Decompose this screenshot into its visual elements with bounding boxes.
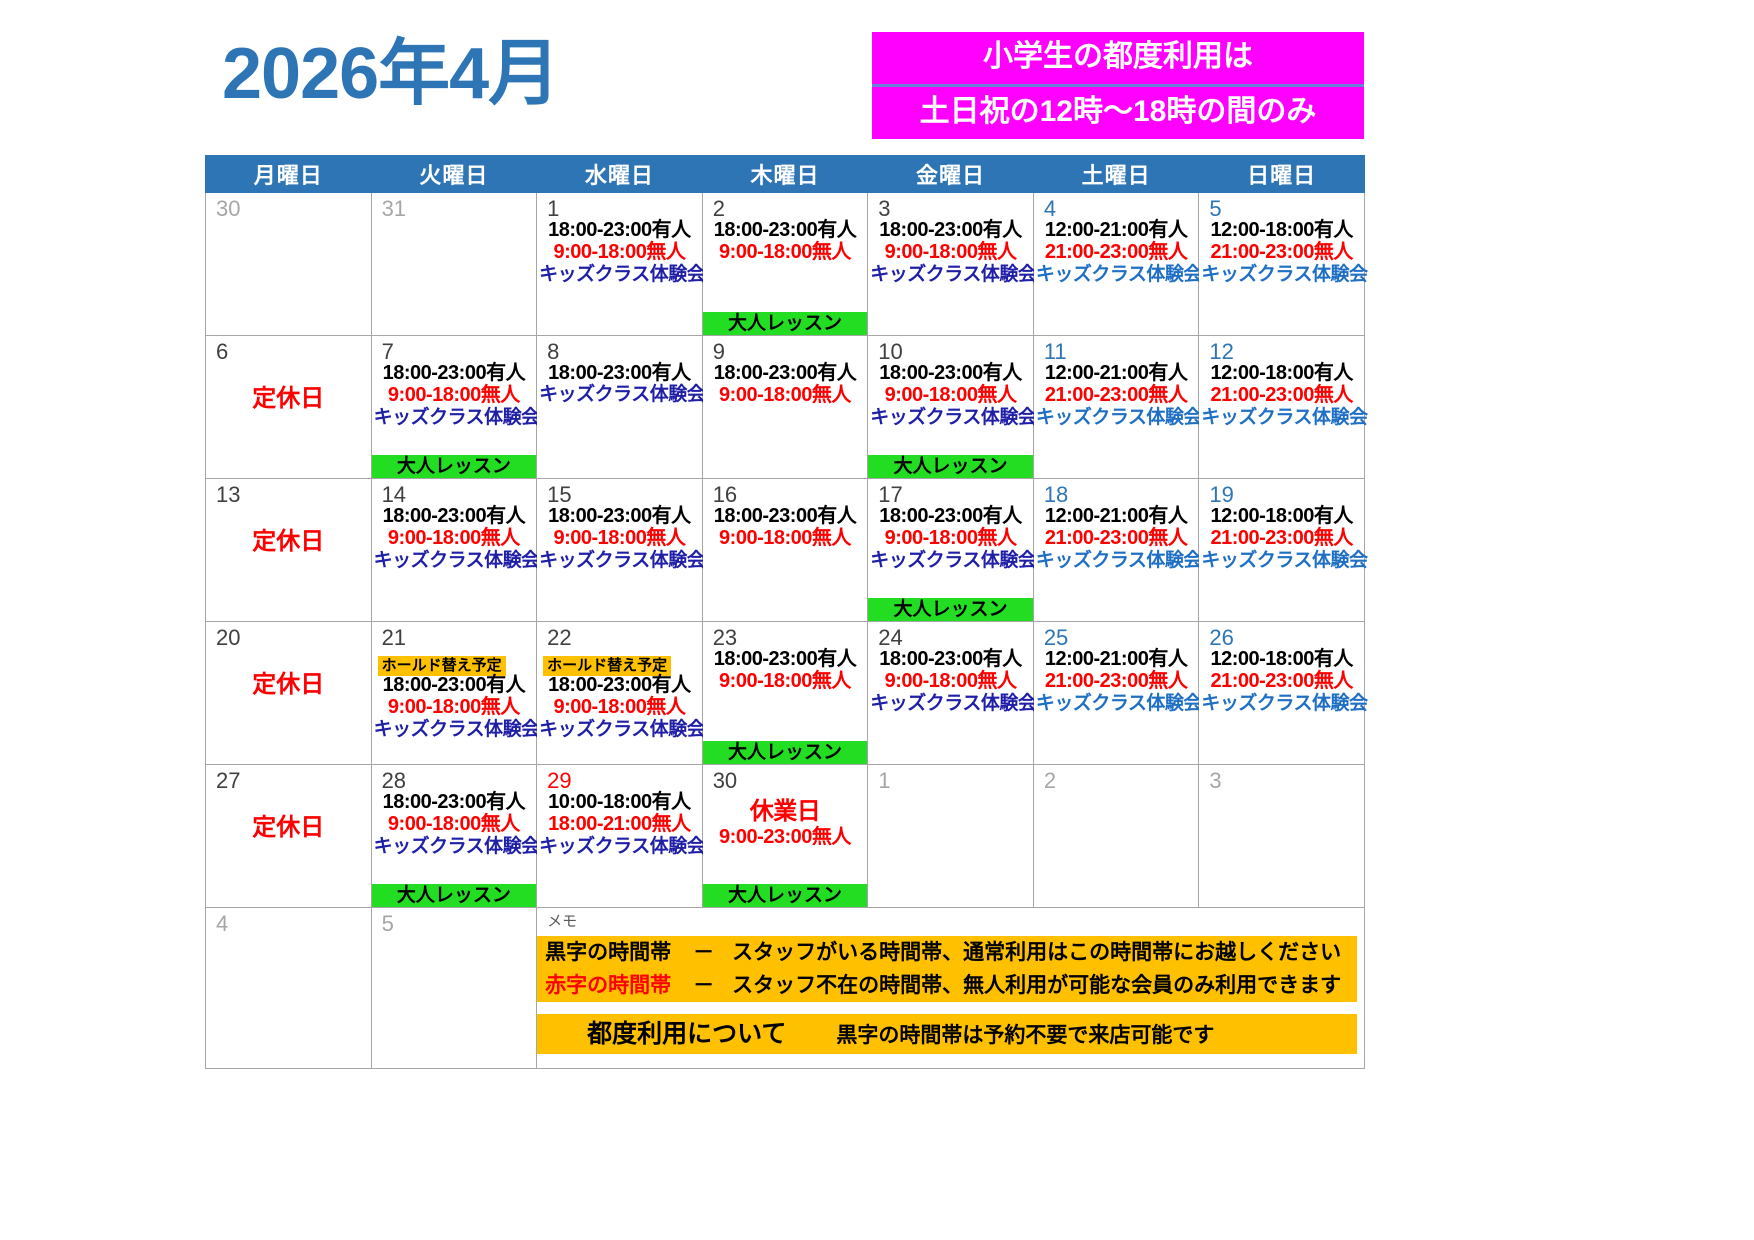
weekday-header-sun: 日曜日 — [1199, 156, 1365, 193]
day-number: 17 — [868, 479, 902, 506]
unstaffed-hours: 9:00-18:00無人 — [870, 527, 1031, 549]
calendar-week-row: 13定休日1418:00-23:00有人9:00-18:00無人キッズクラス体験… — [206, 479, 1365, 622]
calendar-day-cell[interactable]: 6定休日 — [206, 336, 372, 479]
staffed-hours: 18:00-23:00有人 — [539, 505, 700, 527]
day-number: 10 — [868, 336, 902, 363]
day-schedule-lines: 18:00-23:00有人9:00-18:00無人 — [703, 219, 868, 264]
day-cell-content: 2910:00-18:00有人18:00-21:00無人キッズクラス体験会 — [537, 765, 702, 907]
calendar-day-cell[interactable]: 30休業日9:00-23:00無人大人レッスン — [702, 765, 868, 908]
day-schedule-lines: 12:00-18:00有人21:00-23:00無人キッズクラス体験会 — [1199, 219, 1364, 285]
day-number: 5 — [1199, 193, 1221, 220]
day-schedule-lines: 18:00-23:00有人9:00-18:00無人キッズクラス体験会 — [868, 362, 1033, 428]
adult-lesson-bar: 大人レッスン — [372, 455, 537, 478]
legend-key: 赤字の時間帯 — [545, 974, 671, 997]
calendar-day-cell[interactable]: 20定休日 — [206, 622, 372, 765]
kids-class-trial-label: キッズクラス体験会 — [870, 407, 1031, 428]
calendar-day-cell[interactable]: 22ホールド替え予定18:00-23:00有人9:00-18:00無人キッズクラ… — [537, 622, 703, 765]
day-cell-content: 1418:00-23:00有人9:00-18:00無人キッズクラス体験会 — [372, 479, 537, 621]
unstaffed-hours: 21:00-23:00無人 — [1036, 241, 1197, 263]
staffed-hours: 18:00-23:00有人 — [870, 505, 1031, 527]
adult-lesson-bar: 大人レッスン — [868, 598, 1033, 621]
day-number: 14 — [372, 479, 406, 506]
weekday-header-wed: 水曜日 — [537, 156, 703, 193]
day-number: 25 — [1034, 622, 1068, 649]
calendar-day-cell[interactable]: 27定休日 — [206, 765, 372, 908]
unstaffed-hours: 9:00-18:00無人 — [705, 384, 866, 406]
memo-label: メモ — [537, 908, 1364, 929]
calendar-day-cell[interactable]: 412:00-21:00有人21:00-23:00無人キッズクラス体験会 — [1033, 193, 1199, 336]
day-number: 5 — [372, 908, 394, 935]
staffed-hours: 12:00-21:00有人 — [1036, 648, 1197, 670]
staffed-hours: 12:00-18:00有人 — [1201, 505, 1362, 527]
day-cell-content: 1912:00-18:00有人21:00-23:00無人キッズクラス体験会 — [1199, 479, 1364, 621]
kids-class-trial-label: キッズクラス体験会 — [1201, 264, 1362, 285]
calendar-day-cell[interactable]: 2418:00-23:00有人9:00-18:00無人キッズクラス体験会 — [868, 622, 1034, 765]
unstaffed-hours: 21:00-23:00無人 — [1036, 384, 1197, 406]
day-number: 6 — [206, 336, 228, 363]
day-cell-content: 1112:00-21:00有人21:00-23:00無人キッズクラス体験会 — [1034, 336, 1199, 478]
day-number: 2 — [703, 193, 725, 220]
staffed-hours: 18:00-23:00有人 — [705, 505, 866, 527]
calendar-day-cell[interactable]: 1018:00-23:00有人9:00-18:00無人キッズクラス体験会大人レッ… — [868, 336, 1034, 479]
day-cell-content: 22ホールド替え予定18:00-23:00有人9:00-18:00無人キッズクラ… — [537, 622, 702, 764]
kids-class-trial-label: キッズクラス体験会 — [374, 719, 535, 740]
day-number: 24 — [868, 622, 902, 649]
kids-class-trial-label: キッズクラス体験会 — [1036, 407, 1197, 428]
day-number: 1 — [868, 765, 890, 792]
calendar-day-cell[interactable]: 718:00-23:00有人9:00-18:00無人キッズクラス体験会大人レッス… — [371, 336, 537, 479]
unstaffed-hours: 9:00-18:00無人 — [374, 813, 535, 835]
day-number: 12 — [1199, 336, 1233, 363]
calendar-day-cell[interactable]: 1 — [868, 765, 1034, 908]
legend-description: スタッフ不在の時間帯、無人利用が可能な会員のみ利用できます — [732, 974, 1341, 997]
kids-class-trial-label: キッズクラス体験会 — [870, 550, 1031, 571]
unstaffed-hours: 9:00-18:00無人 — [374, 527, 535, 549]
unstaffed-hours: 21:00-23:00無人 — [1201, 241, 1362, 263]
kids-class-trial-label: キッズクラス体験会 — [374, 550, 535, 571]
unstaffed-hours: 21:00-23:00無人 — [1036, 670, 1197, 692]
day-cell-content: 13定休日 — [206, 479, 371, 621]
calendar-day-cell[interactable]: 2910:00-18:00有人18:00-21:00無人キッズクラス体験会 — [537, 765, 703, 908]
day-cell-content: 818:00-23:00有人キッズクラス体験会 — [537, 336, 702, 478]
adult-lesson-bar: 大人レッスン — [703, 884, 868, 907]
calendar-day-cell[interactable]: 512:00-18:00有人21:00-23:00無人キッズクラス体験会 — [1199, 193, 1365, 336]
day-number: 11 — [1034, 336, 1067, 363]
weekday-header-row: 月曜日 火曜日 水曜日 木曜日 金曜日 土曜日 日曜日 — [206, 156, 1365, 193]
day-number: 3 — [868, 193, 890, 220]
unstaffed-hours: 9:00-18:00無人 — [539, 696, 700, 718]
day-schedule-lines: 18:00-23:00有人9:00-18:00無人キッズクラス体験会 — [537, 674, 702, 740]
calendar-day-cell[interactable]: 2612:00-18:00有人21:00-23:00無人キッズクラス体験会 — [1199, 622, 1365, 765]
calendar-day-cell[interactable]: 1812:00-21:00有人21:00-23:00無人キッズクラス体験会 — [1033, 479, 1199, 622]
staffed-hours: 18:00-23:00有人 — [539, 219, 700, 241]
day-cell-content: 30 — [206, 193, 371, 335]
calendar-memo-row: 45メモ黒字の時間帯－スタッフがいる時間帯、通常利用はこの時間帯にお越しください… — [206, 908, 1365, 1069]
day-cell-content: 1 — [868, 765, 1033, 907]
staffed-hours: 18:00-23:00有人 — [374, 505, 535, 527]
day-schedule-lines: 12:00-18:00有人21:00-23:00無人キッズクラス体験会 — [1199, 362, 1364, 428]
calendar-day-cell[interactable]: 318:00-23:00有人9:00-18:00無人キッズクラス体験会 — [868, 193, 1034, 336]
day-cell-content: 1518:00-23:00有人9:00-18:00無人キッズクラス体験会 — [537, 479, 702, 621]
unstaffed-hours: 9:00-18:00無人 — [705, 241, 866, 263]
day-cell-content: 512:00-18:00有人21:00-23:00無人キッズクラス体験会 — [1199, 193, 1364, 335]
adult-lesson-bar: 大人レッスン — [703, 741, 868, 764]
day-number: 16 — [703, 479, 737, 506]
unstaffed-hours: 9:00-18:00無人 — [539, 527, 700, 549]
memo-panel: メモ黒字の時間帯－スタッフがいる時間帯、通常利用はこの時間帯にお越しください赤字… — [537, 908, 1365, 1069]
day-schedule-lines: 12:00-18:00有人21:00-23:00無人キッズクラス体験会 — [1199, 505, 1364, 571]
day-number: 18 — [1034, 479, 1068, 506]
unstaffed-hours: 9:00-23:00無人 — [705, 826, 866, 848]
day-cell-content: 2512:00-21:00有人21:00-23:00無人キッズクラス体験会 — [1034, 622, 1199, 764]
unstaffed-hours: 21:00-23:00無人 — [1201, 384, 1362, 406]
weekday-header-fri: 金曜日 — [868, 156, 1034, 193]
day-number: 19 — [1199, 479, 1233, 506]
staffed-hours: 12:00-18:00有人 — [1201, 219, 1362, 241]
kids-class-trial-label: キッズクラス体験会 — [1036, 693, 1197, 714]
calendar-day-cell[interactable]: 1912:00-18:00有人21:00-23:00無人キッズクラス体験会 — [1199, 479, 1365, 622]
calendar-day-cell[interactable]: 1618:00-23:00有人9:00-18:00無人 — [702, 479, 868, 622]
staffed-hours: 18:00-23:00有人 — [539, 674, 700, 696]
kids-class-trial-label: キッズクラス体験会 — [1201, 550, 1362, 571]
day-schedule-lines: 18:00-23:00有人9:00-18:00無人キッズクラス体験会 — [868, 505, 1033, 571]
unstaffed-hours: 9:00-18:00無人 — [374, 696, 535, 718]
regular-holiday-label: 定休日 — [206, 521, 371, 556]
staffed-hours: 18:00-23:00有人 — [705, 219, 866, 241]
day-cell-content: 27定休日 — [206, 765, 371, 907]
staffed-hours: 12:00-21:00有人 — [1036, 219, 1197, 241]
day-cell-content: 6定休日 — [206, 336, 371, 478]
staffed-hours: 12:00-21:00有人 — [1036, 505, 1197, 527]
day-schedule-lines: 12:00-21:00有人21:00-23:00無人キッズクラス体験会 — [1034, 362, 1199, 428]
staffed-hours: 18:00-23:00有人 — [870, 219, 1031, 241]
kids-class-trial-label: キッズクラス体験会 — [870, 264, 1031, 285]
unstaffed-hours: 9:00-18:00無人 — [870, 241, 1031, 263]
day-number: 4 — [1034, 193, 1056, 220]
day-number: 23 — [703, 622, 737, 649]
calendar-day-cell[interactable]: 1112:00-21:00有人21:00-23:00無人キッズクラス体験会 — [1033, 336, 1199, 479]
day-number: 31 — [372, 193, 406, 220]
legend-block: 黒字の時間帯－スタッフがいる時間帯、通常利用はこの時間帯にお越しください赤字の時… — [537, 936, 1357, 1054]
day-schedule-lines: 12:00-18:00有人21:00-23:00無人キッズクラス体験会 — [1199, 648, 1364, 714]
regular-holiday-label: 定休日 — [206, 664, 371, 699]
weekday-header-tue: 火曜日 — [371, 156, 537, 193]
day-number: 9 — [703, 336, 725, 363]
legend-row: 赤字の時間帯－スタッフ不在の時間帯、無人利用が可能な会員のみ利用できます — [537, 969, 1357, 1002]
staffed-hours: 18:00-23:00有人 — [705, 362, 866, 384]
day-cell-content: 2 — [1034, 765, 1199, 907]
unstaffed-hours: 9:00-18:00無人 — [705, 527, 866, 549]
day-number: 4 — [206, 908, 228, 935]
day-cell-content: 31 — [372, 193, 537, 335]
calendar-day-cell[interactable]: 2 — [1033, 765, 1199, 908]
day-cell-content: 118:00-23:00有人9:00-18:00無人キッズクラス体験会 — [537, 193, 702, 335]
day-schedule-lines: 18:00-23:00有人キッズクラス体験会 — [537, 362, 702, 406]
day-schedule-lines: 18:00-23:00有人9:00-18:00無人 — [703, 362, 868, 407]
day-cell-content: 918:00-23:00有人9:00-18:00無人 — [703, 336, 868, 478]
staffed-hours: 18:00-23:00有人 — [870, 362, 1031, 384]
staffed-hours: 18:00-23:00有人 — [374, 362, 535, 384]
calendar-day-cell[interactable]: 218:00-23:00有人9:00-18:00無人大人レッスン — [702, 193, 868, 336]
day-cell-content: 30休業日9:00-23:00無人大人レッスン — [703, 765, 868, 907]
kids-class-trial-label: キッズクラス体験会 — [374, 407, 535, 428]
staffed-hours: 10:00-18:00有人 — [539, 791, 700, 813]
day-cell-content: 1812:00-21:00有人21:00-23:00無人キッズクラス体験会 — [1034, 479, 1199, 621]
kids-class-trial-label: キッズクラス体験会 — [539, 836, 700, 857]
calendar-day-cell[interactable]: 5 — [371, 908, 537, 1069]
notice-banner: 小学生の都度利用は 土日祝の12時～18時の間のみ — [872, 32, 1364, 139]
regular-holiday-label: 定休日 — [206, 378, 371, 413]
notice-line-2: 土日祝の12時～18時の間のみ — [872, 87, 1364, 139]
legend-dash: － — [671, 974, 732, 997]
unstaffed-hours: 21:00-23:00無人 — [1036, 527, 1197, 549]
day-cell-content: 218:00-23:00有人9:00-18:00無人大人レッスン — [703, 193, 868, 335]
day-cell-content: 2418:00-23:00有人9:00-18:00無人キッズクラス体験会 — [868, 622, 1033, 764]
calendar-week-row: 27定休日2818:00-23:00有人9:00-18:00無人キッズクラス体験… — [206, 765, 1365, 908]
day-schedule-lines: 18:00-23:00有人9:00-18:00無人 — [703, 648, 868, 693]
legend-row: 黒字の時間帯－スタッフがいる時間帯、通常利用はこの時間帯にお越しください — [537, 936, 1357, 969]
kids-class-trial-label: キッズクラス体験会 — [539, 550, 700, 571]
day-number: 30 — [206, 193, 240, 220]
kids-class-trial-label: キッズクラス体験会 — [1201, 693, 1362, 714]
day-schedule-lines: 12:00-21:00有人21:00-23:00無人キッズクラス体験会 — [1034, 219, 1199, 285]
day-number: 1 — [537, 193, 559, 220]
unstaffed-hours: 9:00-18:00無人 — [539, 241, 700, 263]
calendar-day-cell[interactable]: 818:00-23:00有人キッズクラス体験会 — [537, 336, 703, 479]
day-number: 21 — [372, 622, 406, 649]
kids-class-trial-label: キッズクラス体験会 — [1201, 407, 1362, 428]
day-cell-content: 2818:00-23:00有人9:00-18:00無人キッズクラス体験会大人レッ… — [372, 765, 537, 907]
regular-holiday-label: 定休日 — [206, 807, 371, 842]
legend-dash: － — [671, 941, 732, 964]
day-number: 2 — [1034, 765, 1056, 792]
day-number: 28 — [372, 765, 406, 792]
calendar-day-cell[interactable]: 21ホールド替え予定18:00-23:00有人9:00-18:00無人キッズクラ… — [371, 622, 537, 765]
calendar-week-row: 3031118:00-23:00有人9:00-18:00無人キッズクラス体験会2… — [206, 193, 1365, 336]
day-schedule-lines: 18:00-23:00有人9:00-18:00無人キッズクラス体験会 — [868, 648, 1033, 714]
calendar-page: 2026年4月 小学生の都度利用は 土日祝の12時～18時の間のみ 月曜日 火曜… — [0, 0, 1754, 1240]
day-number: 30 — [703, 765, 737, 792]
notice-line-1: 小学生の都度利用は — [872, 32, 1364, 87]
legend-key: 黒字の時間帯 — [545, 941, 671, 964]
calendar-day-cell[interactable]: 31 — [371, 193, 537, 336]
calendar-day-cell[interactable]: 118:00-23:00有人9:00-18:00無人キッズクラス体験会 — [537, 193, 703, 336]
calendar-day-cell[interactable]: 2318:00-23:00有人9:00-18:00無人大人レッスン — [702, 622, 868, 765]
day-cell-content: 2612:00-18:00有人21:00-23:00無人キッズクラス体験会 — [1199, 622, 1364, 764]
day-schedule-lines: 10:00-18:00有人18:00-21:00無人キッズクラス体験会 — [537, 791, 702, 857]
unstaffed-hours: 21:00-23:00無人 — [1201, 670, 1362, 692]
day-number: 8 — [537, 336, 559, 363]
calendar-day-cell[interactable]: 4 — [206, 908, 372, 1069]
adult-lesson-bar: 大人レッスン — [703, 312, 868, 335]
day-schedule-lines: 18:00-23:00有人9:00-18:00無人キッズクラス体験会 — [537, 505, 702, 571]
calendar-week-row: 6定休日718:00-23:00有人9:00-18:00無人キッズクラス体験会大… — [206, 336, 1365, 479]
calendar-day-cell[interactable]: 30 — [206, 193, 372, 336]
legend-footer-text: 黒字の時間帯は予約不要で来店可能です — [786, 1024, 1214, 1047]
unstaffed-hours: 18:00-21:00無人 — [539, 813, 700, 835]
day-schedule-lines: 18:00-23:00有人9:00-18:00無人キッズクラス体験会 — [372, 362, 537, 428]
day-cell-content: 1618:00-23:00有人9:00-18:00無人 — [703, 479, 868, 621]
weekday-header-sat: 土曜日 — [1033, 156, 1199, 193]
day-cell-content: 20定休日 — [206, 622, 371, 764]
day-schedule-lines: 12:00-21:00有人21:00-23:00無人キッズクラス体験会 — [1034, 505, 1199, 571]
day-schedule-lines: 18:00-23:00有人9:00-18:00無人キッズクラス体験会 — [372, 791, 537, 857]
adult-lesson-bar: 大人レッスン — [372, 884, 537, 907]
unstaffed-hours: 9:00-18:00無人 — [870, 384, 1031, 406]
staffed-hours: 18:00-23:00有人 — [705, 648, 866, 670]
day-number: 20 — [206, 622, 240, 649]
day-cell-content: 718:00-23:00有人9:00-18:00無人キッズクラス体験会大人レッス… — [372, 336, 537, 478]
unstaffed-hours: 21:00-23:00無人 — [1201, 527, 1362, 549]
calendar-body: 3031118:00-23:00有人9:00-18:00無人キッズクラス体験会2… — [206, 193, 1365, 1069]
calendar-day-cell[interactable]: 918:00-23:00有人9:00-18:00無人 — [702, 336, 868, 479]
unstaffed-hours: 9:00-18:00無人 — [705, 670, 866, 692]
staffed-hours: 12:00-21:00有人 — [1036, 362, 1197, 384]
legend-gap — [537, 1002, 1357, 1014]
day-schedule-lines: 12:00-21:00有人21:00-23:00無人キッズクラス体験会 — [1034, 648, 1199, 714]
day-number: 3 — [1199, 765, 1221, 792]
day-number: 13 — [206, 479, 240, 506]
staffed-hours: 18:00-23:00有人 — [539, 362, 700, 384]
calendar-table: 月曜日 火曜日 水曜日 木曜日 金曜日 土曜日 日曜日 3031118:00-2… — [205, 155, 1365, 1069]
day-number: 15 — [537, 479, 571, 506]
day-cell-content: 318:00-23:00有人9:00-18:00無人キッズクラス体験会 — [868, 193, 1033, 335]
hold-change-badge: ホールド替え予定 — [378, 656, 506, 676]
day-cell-content: 412:00-21:00有人21:00-23:00無人キッズクラス体験会 — [1034, 193, 1199, 335]
day-schedule-lines: 18:00-23:00有人9:00-18:00無人キッズクラス体験会 — [868, 219, 1033, 285]
legend-footer-row: 都度利用について黒字の時間帯は予約不要で来店可能です — [537, 1014, 1357, 1054]
hold-change-badge: ホールド替え予定 — [543, 656, 671, 676]
kids-class-trial-label: キッズクラス体験会 — [870, 693, 1031, 714]
day-cell-content: 1018:00-23:00有人9:00-18:00無人キッズクラス体験会大人レッ… — [868, 336, 1033, 478]
kids-class-trial-label: キッズクラス体験会 — [1036, 264, 1197, 285]
calendar-day-cell[interactable]: 3 — [1199, 765, 1365, 908]
day-cell-content: 1718:00-23:00有人9:00-18:00無人キッズクラス体験会大人レッ… — [868, 479, 1033, 621]
day-number: 29 — [537, 765, 571, 792]
day-schedule-lines: 18:00-23:00有人9:00-18:00無人キッズクラス体験会 — [537, 219, 702, 285]
staffed-hours: 18:00-23:00有人 — [374, 791, 535, 813]
day-number: 27 — [206, 765, 240, 792]
weekday-header-thu: 木曜日 — [702, 156, 868, 193]
closed-day-label: 休業日 — [705, 799, 866, 826]
kids-class-trial-label: キッズクラス体験会 — [374, 836, 535, 857]
kids-class-trial-label: キッズクラス体験会 — [539, 719, 700, 740]
day-schedule-lines: 18:00-23:00有人9:00-18:00無人キッズクラス体験会 — [372, 505, 537, 571]
legend-description: スタッフがいる時間帯、通常利用はこの時間帯にお越しください — [732, 941, 1341, 964]
calendar-day-cell[interactable]: 1518:00-23:00有人9:00-18:00無人キッズクラス体験会 — [537, 479, 703, 622]
day-cell-content: 2318:00-23:00有人9:00-18:00無人大人レッスン — [703, 622, 868, 764]
calendar-day-cell[interactable]: 13定休日 — [206, 479, 372, 622]
day-cell-content: 3 — [1199, 765, 1364, 907]
day-number: 7 — [372, 336, 394, 363]
staffed-hours: 12:00-18:00有人 — [1201, 362, 1362, 384]
unstaffed-hours: 9:00-18:00無人 — [870, 670, 1031, 692]
calendar-day-cell[interactable]: 1212:00-18:00有人21:00-23:00無人キッズクラス体験会 — [1199, 336, 1365, 479]
unstaffed-hours: 9:00-18:00無人 — [374, 384, 535, 406]
calendar-day-cell[interactable]: 1718:00-23:00有人9:00-18:00無人キッズクラス体験会大人レッ… — [868, 479, 1034, 622]
staffed-hours: 12:00-18:00有人 — [1201, 648, 1362, 670]
calendar-day-cell[interactable]: 2818:00-23:00有人9:00-18:00無人キッズクラス体験会大人レッ… — [371, 765, 537, 908]
adult-lesson-bar: 大人レッスン — [868, 455, 1033, 478]
day-cell-content: 21ホールド替え予定18:00-23:00有人9:00-18:00無人キッズクラ… — [372, 622, 537, 764]
staffed-hours: 18:00-23:00有人 — [870, 648, 1031, 670]
kids-class-trial-label: キッズクラス体験会 — [1036, 550, 1197, 571]
day-schedule-lines: 18:00-23:00有人9:00-18:00無人キッズクラス体験会 — [372, 674, 537, 740]
weekday-header-mon: 月曜日 — [206, 156, 372, 193]
calendar-day-cell[interactable]: 1418:00-23:00有人9:00-18:00無人キッズクラス体験会 — [371, 479, 537, 622]
page-title: 2026年4月 — [222, 38, 559, 110]
day-number: 22 — [537, 622, 571, 649]
kids-class-trial-label: キッズクラス体験会 — [539, 384, 700, 405]
day-schedule-lines: 18:00-23:00有人9:00-18:00無人 — [703, 505, 868, 550]
kids-class-trial-label: キッズクラス体験会 — [539, 264, 700, 285]
day-cell-content: 1212:00-18:00有人21:00-23:00無人キッズクラス体験会 — [1199, 336, 1364, 478]
staffed-hours: 18:00-23:00有人 — [374, 674, 535, 696]
calendar-day-cell[interactable]: 2512:00-21:00有人21:00-23:00無人キッズクラス体験会 — [1033, 622, 1199, 765]
day-schedule-lines: 休業日9:00-23:00無人 — [703, 799, 868, 848]
day-number: 26 — [1199, 622, 1233, 649]
calendar-week-row: 20定休日21ホールド替え予定18:00-23:00有人9:00-18:00無人… — [206, 622, 1365, 765]
legend-footer-title: 都度利用について — [587, 1020, 786, 1048]
